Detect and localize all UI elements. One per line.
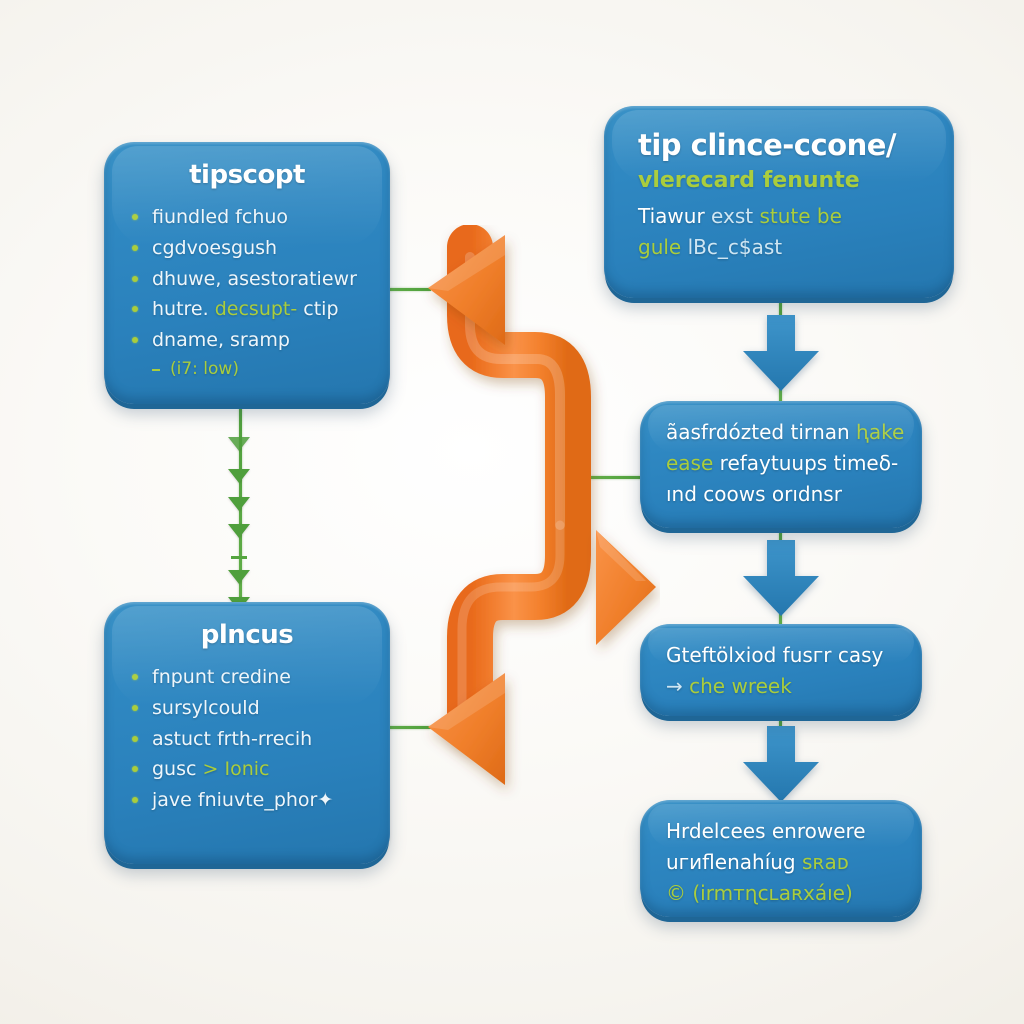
bullet-dot-icon <box>132 214 138 220</box>
node-top-right[interactable]: tip clince-ccone/ vlerecard fenunte Tiaw… <box>604 106 954 298</box>
left-column-chevron-3 <box>228 497 250 511</box>
node-top-left-title: tipscopt <box>130 160 364 190</box>
node-right-fourth-line-3: © (irmтɳcʟaʀхáıe) <box>666 878 896 909</box>
blue-down-arrow-1[interactable] <box>735 315 827 397</box>
left-column-chevron-2 <box>228 469 250 483</box>
list-item: fnpunt credine <box>130 662 364 693</box>
list-item: cgdvoesgush <box>130 233 364 264</box>
node-top-right-title: tip clince-ccone/ <box>638 128 920 162</box>
bullet-dot-icon <box>132 276 138 282</box>
bullet-dot-icon <box>132 705 138 711</box>
node-top-right-line-2: gule lBc_c$ast <box>638 232 920 263</box>
node-right-second-line-3: ınd coows orıdnsr <box>666 479 896 510</box>
left-column-chevron-1 <box>228 437 250 451</box>
node-right-fourth-line-1: Hrdelcees enrowere <box>666 816 896 847</box>
highlight-text: > Ionic <box>203 758 270 780</box>
list-item-sub: (i7: low) <box>130 356 364 384</box>
node-top-left-bullets: fiundled fchuo cgdvoesgush dhuwe, asesto… <box>130 202 364 383</box>
list-item: fiundled fchuo <box>130 202 364 233</box>
bullet-dot-icon <box>132 766 138 772</box>
node-right-second-line-2: ease refaytuups timeδ- <box>666 448 896 479</box>
node-bottom-left-bullets: fnpunt credine sursylcould astuct frth-r… <box>130 662 364 816</box>
bullet-dot-icon <box>132 674 138 680</box>
blue-down-arrow-3[interactable] <box>735 726 827 808</box>
node-right-second[interactable]: ãаsfrdózted tirոan ԧake ease refaytuups … <box>640 401 922 528</box>
left-column-tick <box>231 556 247 559</box>
left-column-chevron-5 <box>228 570 250 584</box>
bullet-dot-icon <box>132 797 138 803</box>
list-item: astuct frth-rrecih <box>130 724 364 755</box>
node-right-second-line-1: ãаsfrdózted tirոan ԧake <box>666 417 896 448</box>
node-bottom-left-title: plncus <box>130 620 364 650</box>
node-right-third[interactable]: Gteftölхiod fuѕгr casy → che wreek <box>640 624 922 716</box>
node-right-third-line-1: Gteftölхiod fuѕгr casy <box>666 640 896 671</box>
node-right-fourth[interactable]: Hrdelcees enrowere uгиflenahíug sʀaᴅ © (… <box>640 800 922 917</box>
bullet-dot-icon <box>132 337 138 343</box>
list-item: dname, sramp <box>130 325 364 356</box>
node-bottom-left[interactable]: plncus fnpunt credine sursylcould astuct… <box>104 602 390 864</box>
node-right-fourth-line-2: uгиflenahíug sʀaᴅ <box>666 847 896 878</box>
list-item: gusc > Ionic <box>130 754 364 785</box>
diagram-canvas: tipscopt fiundled fchuo cgdvoesgush dhuw… <box>0 0 1024 1024</box>
list-item: dhuwe, asestoratiewr <box>130 264 364 295</box>
node-right-third-line-2: → che wreek <box>666 671 896 702</box>
list-item: jave fniuvte_phor✦ <box>130 785 364 816</box>
bullet-dot-icon <box>132 736 138 742</box>
node-top-right-line-1: Tiawur exst stute be <box>638 201 920 232</box>
highlight-text: decsupt- <box>215 298 298 320</box>
list-item: hutre. decsupt- ctip <box>130 294 364 325</box>
node-top-left[interactable]: tipscopt fiundled fchuo cgdvoesgush dhuw… <box>104 142 390 404</box>
list-item: sursylcould <box>130 693 364 724</box>
orange-arrowhead-middle-right <box>596 530 656 645</box>
orange-s-connector <box>400 225 660 815</box>
node-top-right-subtitle: vlerecard fenunte <box>638 168 920 193</box>
blue-down-arrow-2[interactable] <box>735 540 827 622</box>
left-column-chevron-4 <box>228 524 250 538</box>
dash-icon <box>152 369 160 371</box>
bullet-dot-icon <box>132 306 138 312</box>
bullet-dot-icon <box>132 245 138 251</box>
